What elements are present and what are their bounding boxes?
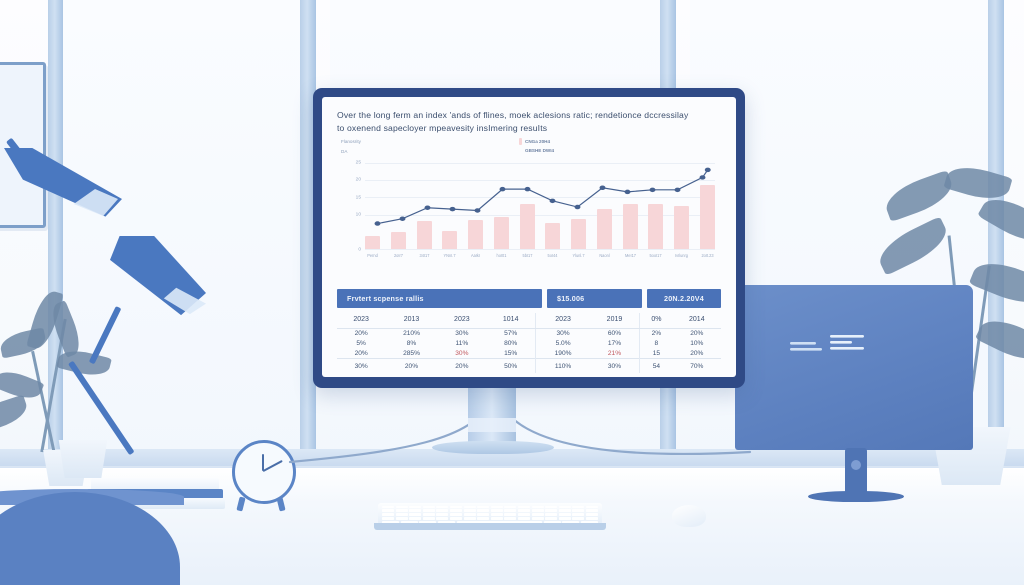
keyboard-key[interactable] (436, 517, 448, 520)
table-column-header: 2014 (673, 313, 721, 329)
keyboard-key[interactable] (409, 509, 421, 512)
table-group-header: 20N.2.20V4 (647, 289, 721, 308)
chart-x-tick-label: hoI01 (494, 253, 508, 258)
keyboard-key[interactable] (572, 506, 584, 509)
keyboard-key[interactable] (436, 509, 448, 512)
keyboard[interactable] (374, 503, 606, 531)
keyboard-key[interactable] (572, 509, 584, 512)
table-column-header: 0% (640, 313, 673, 329)
table-cell: 110% (536, 359, 590, 374)
chart-x-tick-label: 5bI17 (520, 253, 534, 258)
keyboard-key[interactable] (396, 513, 408, 516)
table-group-header: Frvtert scpense rallis (337, 289, 542, 308)
keyboard-key[interactable] (545, 506, 557, 509)
chart-data-point (700, 175, 706, 179)
monitor-neck-band (468, 418, 516, 432)
chart-data-point (675, 188, 681, 192)
mouse[interactable] (672, 505, 706, 527)
keyboard-key[interactable] (464, 509, 476, 512)
keyboard-key[interactable] (491, 509, 503, 512)
keyboard-key[interactable] (423, 517, 435, 520)
legend-label: CNGa 20H4 (525, 139, 550, 144)
keyboard-key[interactable] (586, 517, 598, 520)
keyboard-key[interactable] (396, 509, 408, 512)
table-cell: 20% (337, 329, 385, 339)
keyboard-key[interactable] (382, 517, 394, 520)
legend-item: GBSHE DWI4 (519, 147, 554, 154)
chart-data-point (625, 190, 631, 194)
keyboard-key[interactable] (477, 513, 489, 516)
chart-data-point (475, 208, 481, 212)
keyboard-key[interactable] (450, 509, 462, 512)
lamp-base-pot (56, 440, 110, 478)
keyboard-key[interactable] (504, 506, 516, 509)
chart-data-point (425, 205, 431, 209)
keyboard-key[interactable] (477, 517, 489, 520)
chart-data-point (450, 207, 456, 211)
brand-logo-icon (790, 334, 868, 356)
keyboard-base (374, 523, 606, 530)
table-total-row: 30%20%20%50%110%30%5470% (337, 359, 721, 374)
keyboard-key[interactable] (504, 513, 516, 516)
chart-data-point (600, 186, 606, 190)
keyboard-key[interactable] (450, 513, 462, 516)
plant-leaf (969, 254, 1024, 312)
cables (280, 400, 780, 510)
keyboard-key[interactable] (504, 509, 516, 512)
chart-y-tick-label: 25 (356, 161, 361, 166)
key-row (382, 513, 598, 516)
chart-x-axis-labels: Pernd2oIr734I17YNnI.7AaIkIhoI015bI175oI4… (365, 253, 715, 258)
keyboard-key[interactable] (477, 506, 489, 509)
chart-data-point (550, 199, 556, 203)
keyboard-key[interactable] (559, 509, 571, 512)
keyboard-key[interactable] (409, 513, 421, 516)
monitor-screen[interactable]: Over the long ferm an index 'ands of fli… (322, 97, 736, 377)
table-cell: 15 (640, 349, 673, 359)
keyboard-key[interactable] (491, 517, 503, 520)
table-cell: 17% (590, 339, 640, 349)
keyboard-key[interactable] (436, 506, 448, 509)
table-row: 20%285%30%15%190%21%1520% (337, 349, 721, 359)
keyboard-key[interactable] (586, 513, 598, 516)
table-group-header-row: Frvtert scpense rallis $15.006 20N.2.20V… (337, 289, 721, 308)
keyboard-key[interactable] (532, 506, 544, 509)
primary-monitor[interactable]: Over the long ferm an index 'ands of fli… (313, 88, 745, 388)
keyboard-key[interactable] (423, 506, 435, 509)
table-cell: 21% (590, 349, 640, 359)
keyboard-key[interactable] (464, 517, 476, 520)
table-column-header: 2023 (438, 313, 486, 329)
table-cell: 60% (590, 329, 640, 339)
keyboard-key[interactable] (559, 513, 571, 516)
chart-x-tick-label: 5oI44 (546, 253, 560, 258)
keyboard-key[interactable] (464, 513, 476, 516)
table-cell: 20% (337, 349, 385, 359)
keyboard-key[interactable] (491, 513, 503, 516)
chart-x-tick-label: 2oIt.23 (701, 253, 715, 258)
table-group-header: $15.006 (547, 289, 642, 308)
keyboard-key[interactable] (545, 517, 557, 520)
table-cell: 54 (640, 359, 673, 374)
legend-item: CNGa 20H4 (519, 138, 554, 145)
table-cell: 30% (438, 329, 486, 339)
table-column-header: 2023 (337, 313, 385, 329)
chart-line-series (365, 163, 715, 249)
keyboard-key[interactable] (586, 506, 598, 509)
keyboard-key[interactable] (532, 517, 544, 520)
table-cell: 15% (486, 349, 536, 359)
keyboard-key[interactable] (572, 513, 584, 516)
keyboard-key[interactable] (491, 506, 503, 509)
chart-plot-area: 010152025 (365, 163, 715, 249)
keyboard-key[interactable] (450, 506, 462, 509)
chart-y-tick-label: 20 (356, 178, 361, 183)
keyboard-key[interactable] (504, 517, 516, 520)
table-cell: 30% (590, 359, 640, 374)
chart-x-tick-label: Pernd (366, 253, 380, 258)
data-table-section: Frvtert scpense rallis $15.006 20N.2.20V… (337, 289, 721, 373)
screen-title: Over the long ferm an index 'ands of fli… (337, 109, 692, 134)
chart-x-tick-label: Naonl (597, 253, 611, 258)
chart-x-tick-label: Ylunl.7 (572, 253, 586, 258)
table-column-header: 1014 (486, 313, 536, 329)
keyboard-key[interactable] (559, 517, 571, 520)
keyboard-key[interactable] (409, 517, 421, 520)
chart-data-point (400, 216, 406, 220)
lamp-head (4, 148, 122, 236)
keyboard-key[interactable] (518, 517, 530, 520)
key-row (382, 506, 598, 509)
table-row: 5%8%11%80%5.0%17%810% (337, 339, 721, 349)
keyboard-key[interactable] (518, 513, 530, 516)
table-cell: 20% (438, 359, 486, 374)
secondary-monitor-base (808, 491, 904, 502)
keyboard-key[interactable] (518, 506, 530, 509)
chart-axis-caption-1: Flanosrity (341, 139, 361, 144)
table-cell: 30% (337, 359, 385, 374)
lamp-head (110, 236, 206, 328)
chart-x-tick-label: YNnI.7 (443, 253, 457, 258)
table-cell: 20% (385, 359, 437, 374)
chart-legend: CNGa 20H4 GBSHE DWI4 (519, 138, 554, 154)
keyboard-key[interactable] (423, 509, 435, 512)
keyboard-key[interactable] (464, 506, 476, 509)
table-cell: 50% (486, 359, 536, 374)
keyboard-key[interactable] (586, 509, 598, 512)
plant-leaf (0, 327, 48, 358)
table-cell: 20% (673, 329, 721, 339)
key-grid (382, 506, 598, 523)
expense-ratio-table: 2023201320231014202320190%2014 20%210%30… (337, 313, 721, 373)
keyboard-key[interactable] (545, 513, 557, 516)
keyboard-key[interactable] (423, 513, 435, 516)
keyboard-key[interactable] (477, 509, 489, 512)
monitor-neck (468, 388, 516, 444)
keyboard-key[interactable] (532, 513, 544, 516)
chart-x-tick-label: MeI17 (623, 253, 637, 258)
table-cell: 190% (536, 349, 590, 359)
chart: Flanosrity DA CNGa 20H4 GBSHE DWI4 (337, 141, 721, 269)
chart-data-point (525, 187, 531, 191)
table-column-header: 2019 (590, 313, 640, 329)
table-cell: 11% (438, 339, 486, 349)
chart-gridline: 0 (365, 249, 715, 250)
chart-data-point (705, 168, 711, 172)
table-cell: 5.0% (536, 339, 590, 349)
keyboard-key[interactable] (436, 513, 448, 516)
table-column-header: 2013 (385, 313, 437, 329)
key-row (382, 509, 598, 512)
chart-y-tick-label: 0 (358, 248, 361, 253)
chart-x-tick-label: 34I17 (417, 253, 431, 258)
desk-lamp-large (0, 130, 130, 260)
monitor-hinge-dot (851, 460, 861, 470)
table-cell: 2% (640, 329, 673, 339)
table-cell: 20% (673, 349, 721, 359)
desk-lamp-small (60, 242, 210, 472)
table-cell: 30% (438, 349, 486, 359)
keyboard-key[interactable] (396, 517, 408, 520)
table-column-header: 2023 (536, 313, 590, 329)
chart-y-tick-label: 10 (356, 213, 361, 218)
keyboard-key[interactable] (382, 509, 394, 512)
legend-swatch-icon (519, 147, 522, 154)
table-row: 20%210%30%57%30%60%2%20% (337, 329, 721, 339)
chart-line-path (378, 170, 708, 224)
monitor-base (432, 441, 554, 454)
keyboard-key[interactable] (572, 517, 584, 520)
chart-x-tick-label: 5ooI17 (649, 253, 663, 258)
keyboard-key[interactable] (545, 509, 557, 512)
plant-leaf (0, 395, 30, 434)
lamp-arm-upper (89, 306, 122, 364)
table-cell: 30% (536, 329, 590, 339)
table-cell: 80% (486, 339, 536, 349)
plant-leaf (873, 216, 953, 275)
clock-leg-left (236, 496, 245, 511)
chart-data-point (650, 188, 656, 192)
table-cell: 8 (640, 339, 673, 349)
chart-axis-caption-2: DA (341, 149, 347, 154)
table-cell: 5% (337, 339, 385, 349)
keyboard-key[interactable] (518, 509, 530, 512)
table-cell: 70% (673, 359, 721, 374)
keyboard-key[interactable] (559, 506, 571, 509)
table-cell: 8% (385, 339, 437, 349)
chart-x-tick-label: AaIkI (469, 253, 483, 258)
table-cell: 10% (673, 339, 721, 349)
secondary-monitor-neck (845, 448, 867, 496)
office-scene: Over the long ferm an index 'ands of fli… (0, 0, 1024, 585)
keyboard-key[interactable] (450, 517, 462, 520)
keyboard-key[interactable] (409, 506, 421, 509)
keyboard-keys-area[interactable] (378, 503, 602, 525)
chart-y-tick-label: 15 (356, 195, 361, 200)
table-cell: 285% (385, 349, 437, 359)
plant-leaf (977, 190, 1024, 251)
key-row (382, 517, 598, 520)
chart-data-point (575, 205, 581, 209)
chart-x-tick-label: 2oIr7 (391, 253, 405, 258)
chart-data-point (500, 187, 506, 191)
keyboard-key[interactable] (532, 509, 544, 512)
keyboard-key[interactable] (396, 506, 408, 509)
legend-swatch-icon (519, 138, 522, 145)
chart-x-tick-label: IvIlunrg (675, 253, 689, 258)
table-cell: 57% (486, 329, 536, 339)
table-body: 20%210%30%57%30%60%2%20%5%8%11%80%5.0%17… (337, 329, 721, 374)
keyboard-key[interactable] (382, 506, 394, 509)
chart-data-point (375, 221, 381, 225)
legend-label: GBSHE DWI4 (525, 148, 554, 153)
table-header-row: 2023201320231014202320190%2014 (337, 313, 721, 329)
table-cell: 210% (385, 329, 437, 339)
keyboard-key[interactable] (382, 513, 394, 516)
